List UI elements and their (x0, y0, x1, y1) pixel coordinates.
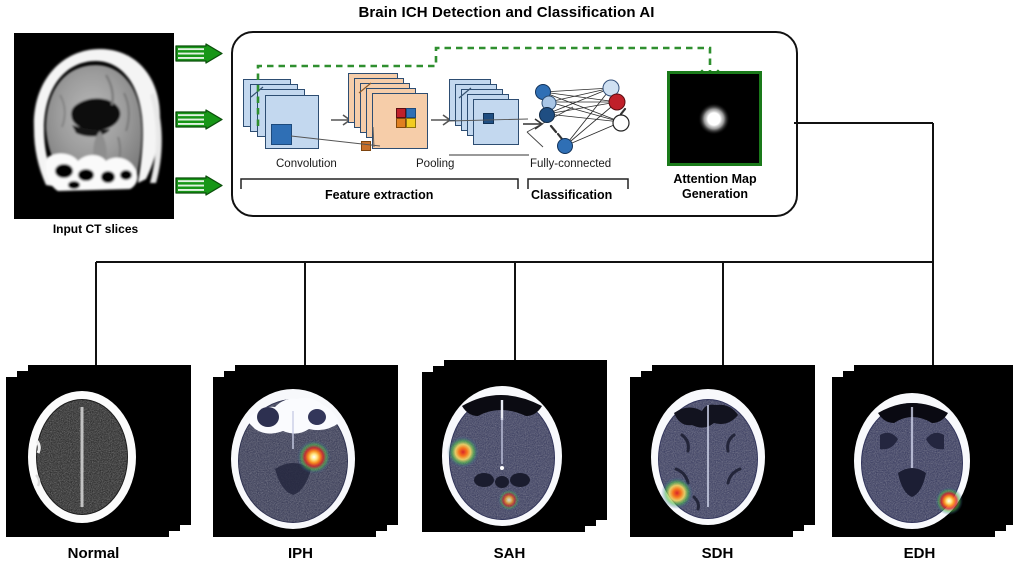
output-ct-edh (832, 365, 1007, 537)
output-label-sdh: SDH (630, 545, 805, 562)
diagram-canvas: Brain ICH Detection and Classification A… (0, 0, 1013, 578)
output-label-edh: EDH (832, 545, 1007, 562)
output-label-iph: IPH (213, 545, 388, 562)
output-ct-normal (6, 365, 181, 537)
output-ct-iph (213, 365, 388, 537)
output-tree-connectors (0, 0, 1013, 400)
output-label-normal: Normal (6, 545, 181, 562)
output-ct-sdh (630, 365, 805, 537)
output-ct-sah (422, 360, 597, 532)
output-label-sah: SAH (422, 545, 597, 562)
